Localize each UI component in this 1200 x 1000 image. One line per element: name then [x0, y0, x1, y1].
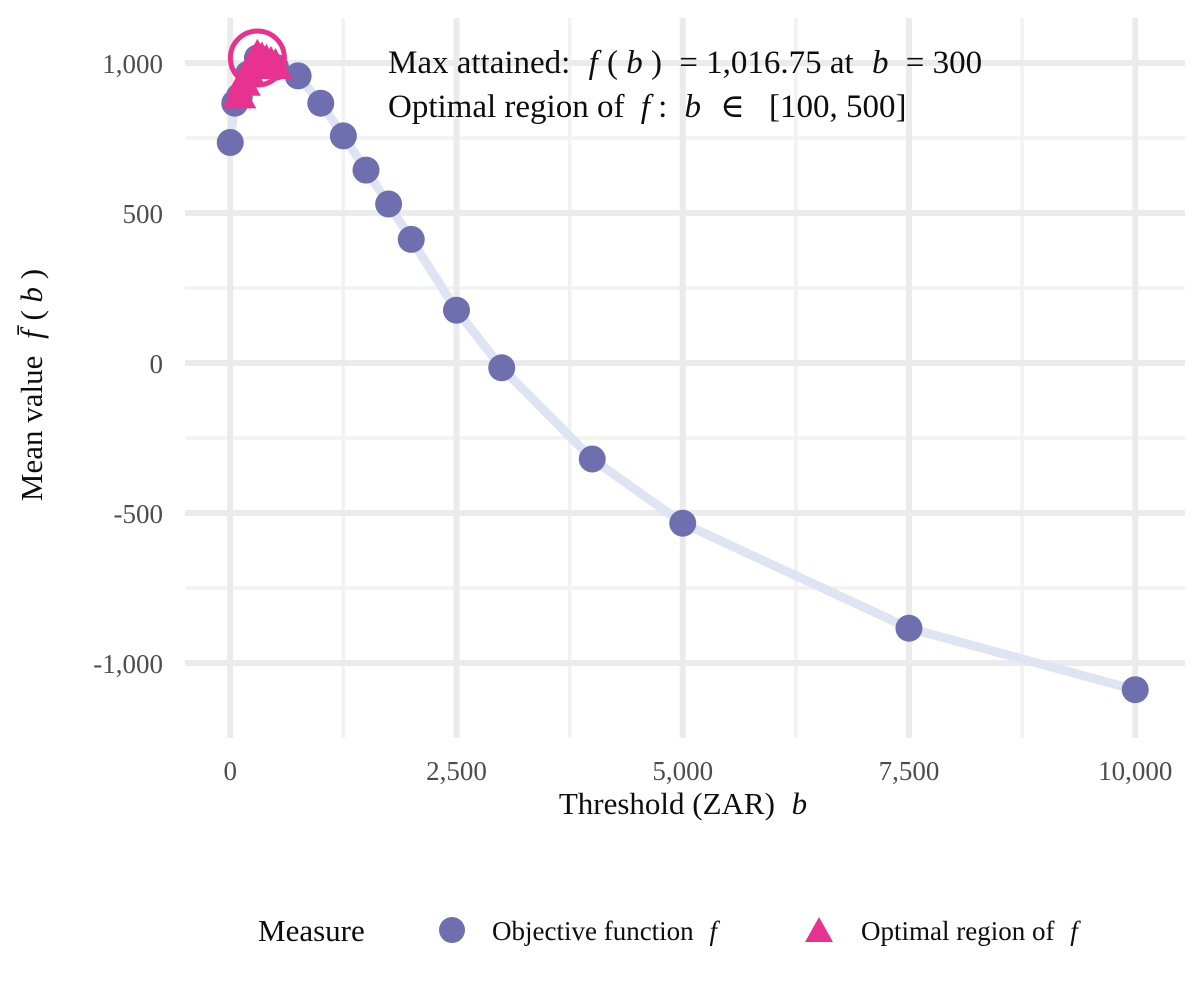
chart-container: -1,000-50005001,000 02,5005,0007,50010,0…	[0, 0, 1200, 1000]
svg-text:Mean value f̄: Mean value f̄ ( b )	[14, 269, 49, 501]
annot-line1-b1: b	[626, 45, 643, 81]
x-tick-label: 0	[223, 756, 237, 786]
y-tick-label: -1,000	[93, 649, 163, 679]
x-tick-label: 2,500	[426, 756, 487, 786]
data-point[interactable]	[307, 90, 334, 117]
annot-line2-prefix: Optimal region of	[388, 89, 624, 125]
annot-line1-value: = 300	[906, 45, 982, 81]
annot-line2-in: ∈	[720, 89, 744, 125]
annot-line2-f: f	[641, 89, 654, 125]
legend-label-objective-main: Objective function	[492, 916, 694, 946]
annot-line1-prefix: Max attained:	[388, 45, 570, 81]
x-axis-title-b: b	[792, 786, 808, 821]
legend-marker-objective-function[interactable]	[439, 917, 465, 943]
legend-label-optimal-main: Optimal region of	[861, 916, 1054, 946]
annot-line2-b: b	[685, 89, 702, 125]
data-point[interactable]	[1122, 676, 1149, 703]
y-tick-label: 1,000	[102, 49, 163, 79]
objective-function-chart: -1,000-50005001,000 02,5005,0007,50010,0…	[0, 0, 1200, 1000]
data-point[interactable]	[579, 446, 606, 473]
svg-text:Optimal region of f: Optimal region of f : b ∈ [100, 500]	[388, 89, 906, 125]
x-axis-title: Threshold (ZAR) b	[559, 786, 807, 821]
annot-line1-b2: b	[872, 45, 889, 81]
legend-item-objective-function[interactable]: Objective function f	[492, 916, 720, 946]
x-axis-title-main: Threshold (ZAR)	[559, 786, 775, 821]
data-point[interactable]	[375, 191, 402, 218]
data-point[interactable]	[398, 226, 425, 253]
chart-background	[0, 0, 1200, 1000]
data-point[interactable]	[443, 297, 470, 324]
y-tick-label: 500	[123, 199, 164, 229]
svg-text:Threshold (ZAR) b: Threshold (ZAR) b	[559, 786, 807, 821]
y-tick-label: -500	[114, 499, 164, 529]
legend-title: Measure	[258, 913, 365, 948]
y-axis-title-open: (	[14, 310, 49, 320]
y-tick-label: 0	[150, 349, 164, 379]
x-tick-label: 5,000	[652, 756, 713, 786]
y-axis-title-fbar: f̄	[14, 325, 49, 339]
x-tick-label: 10,000	[1098, 756, 1172, 786]
data-point[interactable]	[488, 354, 515, 381]
legend-item-optimal-region[interactable]: Optimal region of f	[861, 916, 1081, 946]
x-tick-label: 7,500	[879, 756, 940, 786]
annot-line1-f: f	[589, 45, 602, 81]
data-point[interactable]	[895, 615, 922, 642]
annot-line1-open: (	[607, 45, 618, 81]
y-axis-title: Mean value f̄ ( b )	[14, 269, 49, 501]
data-point[interactable]	[330, 122, 357, 149]
annot-line2-range: [100, 500]	[769, 89, 906, 125]
y-axis-title-main: Mean value	[14, 356, 49, 501]
annot-line2-colon: :	[658, 89, 667, 125]
svg-text:Max attained: f: Max attained: f ( b ) = 1,016.75 at b = …	[388, 45, 982, 81]
y-axis-title-b: b	[14, 287, 49, 303]
data-point[interactable]	[217, 129, 244, 156]
annot-line1-close: )	[651, 45, 662, 81]
annot-line1-eq: = 1,016.75 at	[679, 45, 853, 81]
data-point[interactable]	[669, 510, 696, 537]
y-axis-title-close: )	[14, 269, 49, 279]
data-point[interactable]	[353, 157, 380, 184]
